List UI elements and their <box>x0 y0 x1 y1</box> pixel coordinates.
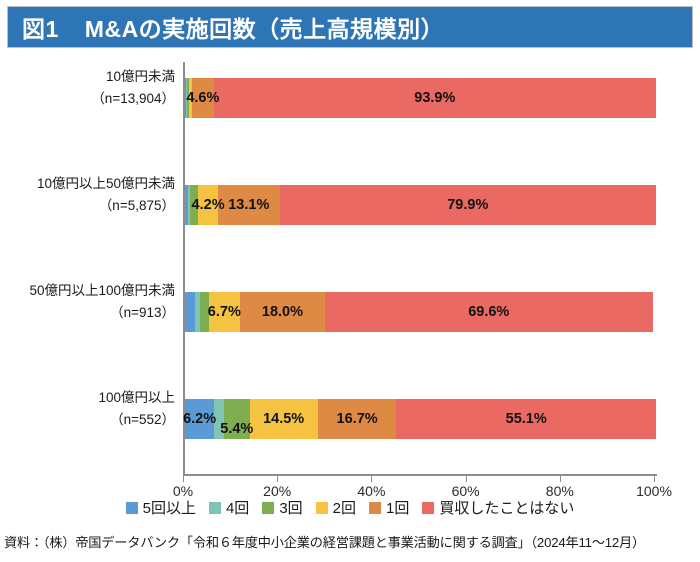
bar-segment[interactable]: 13.1% <box>218 185 280 225</box>
category-label-sample-size: （n=5,875） <box>0 195 175 217</box>
legend-item[interactable]: 2回 <box>316 497 356 518</box>
figure-title-bar: 図1 M&Aの実施回数（売上高規模別） <box>7 6 693 48</box>
x-tick-mark <box>654 476 655 482</box>
bar-segment[interactable]: 6.2% <box>185 399 214 439</box>
bar-segment[interactable]: 14.5% <box>250 399 318 439</box>
legend-item[interactable]: 5回以上 <box>126 497 196 518</box>
bar-segment-value-label: 69.6% <box>468 304 509 320</box>
category-label-group: 100億円以上（n=552） <box>0 387 175 431</box>
legend-item-label: 5回以上 <box>143 497 196 518</box>
bar-segment[interactable]: 79.9% <box>280 185 656 225</box>
category-label-group: 10億円以上50億円未満（n=5,875） <box>0 173 175 217</box>
legend-item[interactable]: 買収したことはない <box>422 497 574 518</box>
category-label-group: 10億円未満（n=13,904） <box>0 66 175 110</box>
bar-segment-value-label: 5.4% <box>220 421 253 437</box>
category-label-group: 50億円以上100億円未満（n=913） <box>0 280 175 324</box>
bar-segment[interactable]: 4.2% <box>198 185 218 225</box>
bar-segment-value-label: 4.6% <box>186 90 219 106</box>
legend-swatch-2kai <box>316 502 328 514</box>
bar-segment[interactable]: 6.7% <box>209 292 241 332</box>
legend-swatch-baishu-nashi <box>422 502 434 514</box>
bar-segment[interactable]: 18.0% <box>240 292 325 332</box>
figure-number: 図1 <box>22 10 59 44</box>
stacked-bar-row[interactable]: 6.7%18.0%69.6% <box>185 292 656 332</box>
bar-segment[interactable] <box>185 292 195 332</box>
stacked-bar-row[interactable]: 6.2%5.4%14.5%16.7%55.1% <box>185 399 656 439</box>
chart-plot-area: 0%20%40%60%80%100% 10億円未満（n=13,904）10億円以… <box>0 52 700 492</box>
bar-segment-value-label: 13.1% <box>228 197 269 213</box>
bar-segment-value-label: 16.7% <box>337 411 378 427</box>
category-label-name: 10億円未満 <box>0 66 175 88</box>
source-note: 資料：（株）帝国データバンク「令和６年度中小企業の経営課題と事業活動に関する調査… <box>4 532 698 551</box>
bar-segment-value-label: 4.2% <box>192 197 225 213</box>
bar-segment-value-label: 6.7% <box>208 304 241 320</box>
legend-item-label: 1回 <box>386 497 409 518</box>
bar-segment-value-label: 55.1% <box>506 411 547 427</box>
legend-item-label: 2回 <box>333 497 356 518</box>
category-label-name: 100億円以上 <box>0 387 175 409</box>
stacked-bar-row[interactable]: 4.6%93.9% <box>185 78 656 118</box>
bar-segment[interactable]: 93.9% <box>214 78 656 118</box>
bar-segment-value-label: 79.9% <box>447 197 488 213</box>
category-label-sample-size: （n=913） <box>0 302 175 324</box>
legend-item[interactable]: 4回 <box>209 497 249 518</box>
bar-segment[interactable]: 55.1% <box>396 399 656 439</box>
x-tick-mark <box>560 476 561 482</box>
bar-segment[interactable]: 4.6% <box>192 78 214 118</box>
x-tick-mark <box>466 476 467 482</box>
legend-item-label: 4回 <box>226 497 249 518</box>
x-tick-mark <box>277 476 278 482</box>
x-tick-mark <box>371 476 372 482</box>
legend-swatch-3kai <box>262 502 274 514</box>
category-label-name: 50億円以上100億円未満 <box>0 280 175 302</box>
legend-item-label: 買収したことはない <box>439 497 574 518</box>
bar-segment[interactable]: 16.7% <box>318 399 397 439</box>
legend-item-label: 3回 <box>279 497 302 518</box>
category-label-sample-size: （n=552） <box>0 409 175 431</box>
bar-segment[interactable]: 5.4% <box>224 399 249 439</box>
stacked-bar-row[interactable]: 4.2%13.1%79.9% <box>185 185 656 225</box>
bar-segment-value-label: 18.0% <box>262 304 303 320</box>
x-tick-mark <box>183 476 184 482</box>
page-title: M&Aの実施回数（売上高規模別） <box>85 10 444 44</box>
category-label-sample-size: （n=13,904） <box>0 88 175 110</box>
bar-segment-value-label: 6.2% <box>183 411 216 427</box>
legend-swatch-5kai-ijou <box>126 502 138 514</box>
legend-swatch-1kai <box>369 502 381 514</box>
bar-segment[interactable]: 69.6% <box>325 292 653 332</box>
x-axis-line <box>183 474 657 476</box>
legend-item[interactable]: 3回 <box>262 497 302 518</box>
bar-segment-value-label: 93.9% <box>414 90 455 106</box>
chart-legend: 5回以上4回3回2回1回買収したことはない <box>0 497 700 518</box>
legend-item[interactable]: 1回 <box>369 497 409 518</box>
legend-swatch-4kai <box>209 502 221 514</box>
category-label-name: 10億円以上50億円未満 <box>0 173 175 195</box>
bar-segment-value-label: 14.5% <box>263 411 304 427</box>
